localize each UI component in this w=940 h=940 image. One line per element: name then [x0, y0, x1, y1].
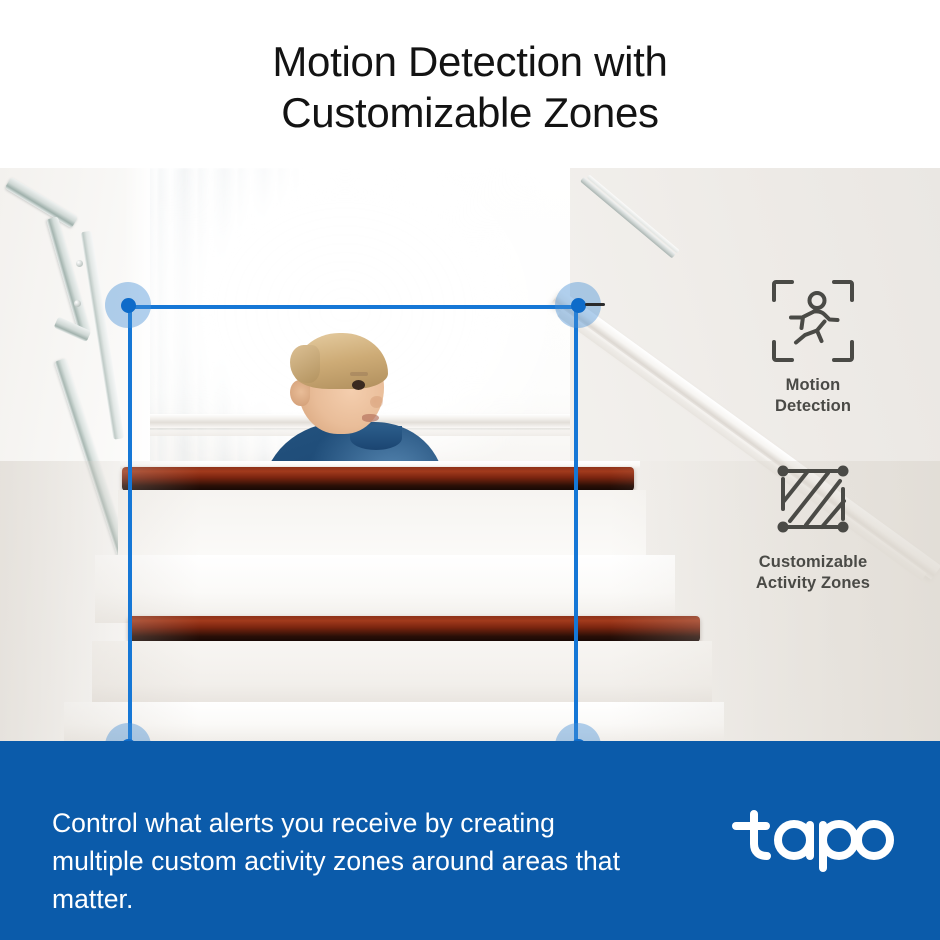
feature-customizable-activity-zones: Customizable Activity Zones: [756, 461, 870, 594]
product-feature-card: Motion Detection with Customizable Zones: [0, 0, 940, 940]
motion-detection-icon: [770, 278, 856, 364]
zone-handle-top-left[interactable]: [105, 282, 151, 328]
feature-motion-detection: Motion Detection: [770, 278, 856, 417]
page-title: Motion Detection with Customizable Zones: [272, 30, 667, 138]
feature-label: Motion Detection: [775, 375, 851, 417]
feature-list: Motion Detection: [728, 278, 898, 594]
header: Motion Detection with Customizable Zones: [0, 0, 940, 168]
zone-handle-top-right[interactable]: [555, 282, 601, 328]
activity-zone-rectangle[interactable]: [128, 305, 578, 741]
banner-description: Control what alerts you receive by creat…: [52, 804, 652, 919]
handrail-segment: [5, 177, 79, 228]
feature-label: Customizable Activity Zones: [756, 552, 870, 594]
handrail-bracket: [76, 260, 83, 267]
customizable-activity-zones-icon: [770, 461, 856, 541]
right-handrail: [580, 177, 676, 259]
scene-photo: Motion Detection: [0, 168, 940, 741]
bottom-banner: Control what alerts you receive by creat…: [0, 741, 940, 940]
handrail-bracket: [74, 300, 81, 307]
tapo-logo: [726, 810, 894, 872]
right-handrail-highlight: [587, 174, 680, 253]
